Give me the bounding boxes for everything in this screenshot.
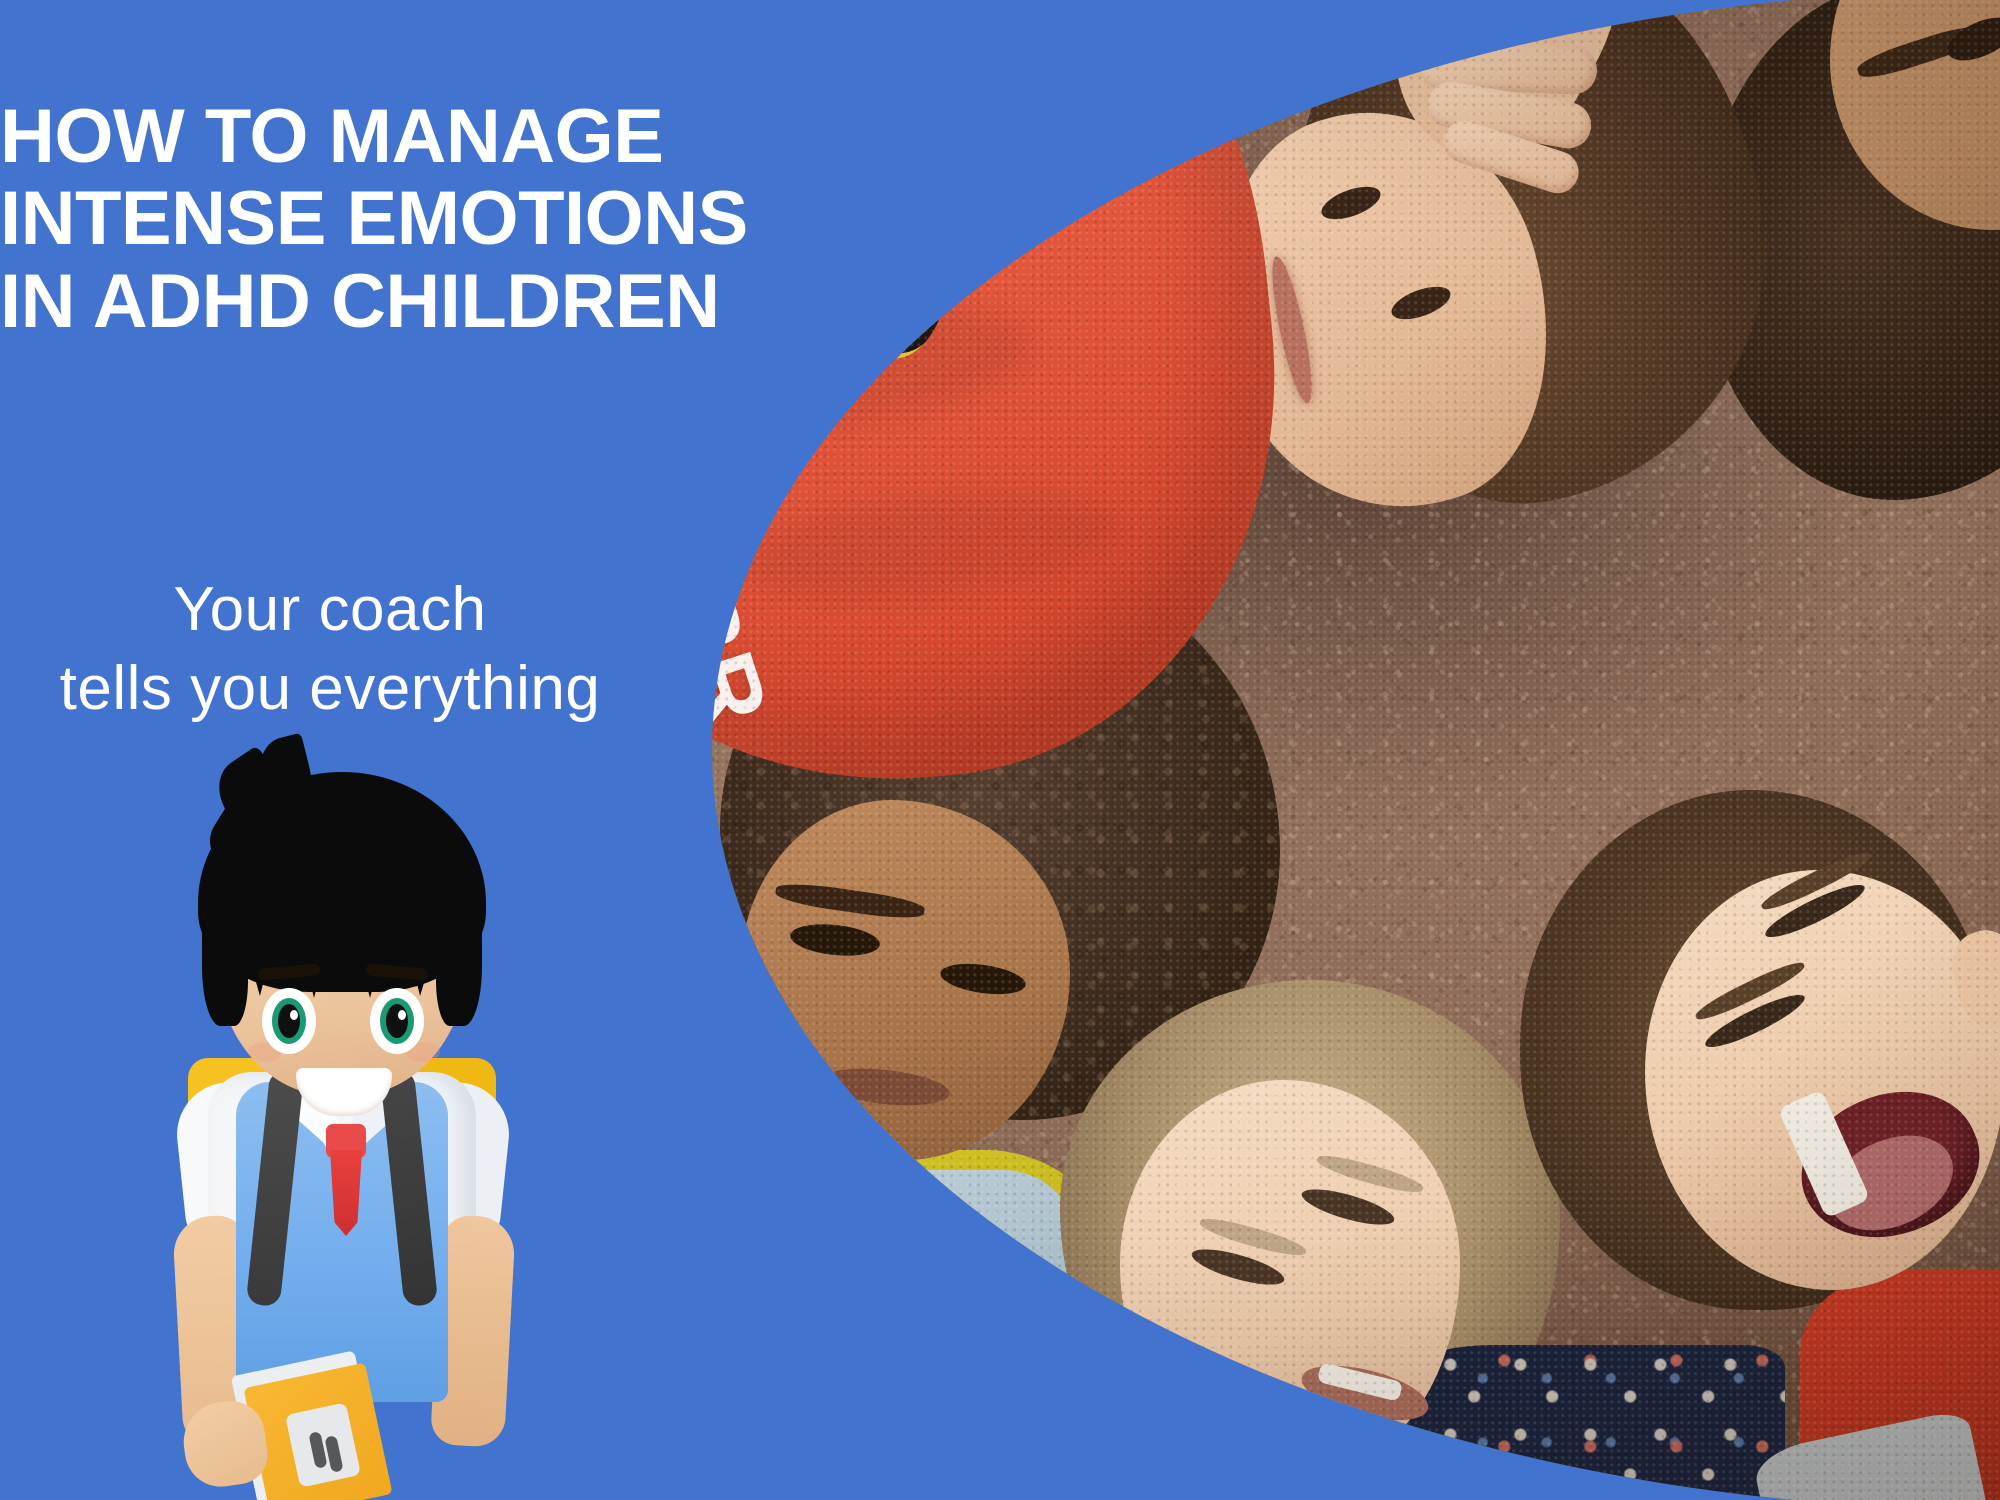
- hair-sideburn-right: [436, 876, 482, 1026]
- subtitle-line-1: Your coach: [0, 570, 660, 649]
- pirate-feather-graphic: [751, 4, 949, 185]
- subtitle-line-2: tells you everything: [0, 649, 660, 728]
- promo-banner: ARRR HOW TO MANAGE INTENSE EMOTIONS IN A…: [0, 0, 2000, 1500]
- child-denim-overalls: [760, 1170, 1080, 1500]
- schoolboy-illustration: [140, 790, 540, 1500]
- child-denim-strap: [776, 1178, 871, 1422]
- skull-and-crossbones-icon: [751, 179, 830, 258]
- eye-glint-right: [398, 1010, 406, 1020]
- pupil-right: [386, 1004, 408, 1038]
- title-line-3: IN ADHD CHILDREN: [0, 261, 660, 343]
- eye-glint-left: [290, 1010, 298, 1020]
- page-title: HOW TO MANAGE INTENSE EMOTIONS IN ADHD C…: [0, 96, 660, 343]
- child-hand: [1425, 0, 1615, 170]
- title-line-1: HOW TO MANAGE: [0, 96, 660, 178]
- pupil-left: [278, 1004, 300, 1038]
- title-line-2: INTENSE EMOTIONS: [0, 178, 660, 260]
- child-blonde-face: [1120, 1080, 1460, 1480]
- hair-sideburn-left: [202, 876, 248, 1026]
- page-subtitle: Your coach tells you everything: [0, 570, 660, 729]
- shirt-fold-2: [739, 476, 1127, 615]
